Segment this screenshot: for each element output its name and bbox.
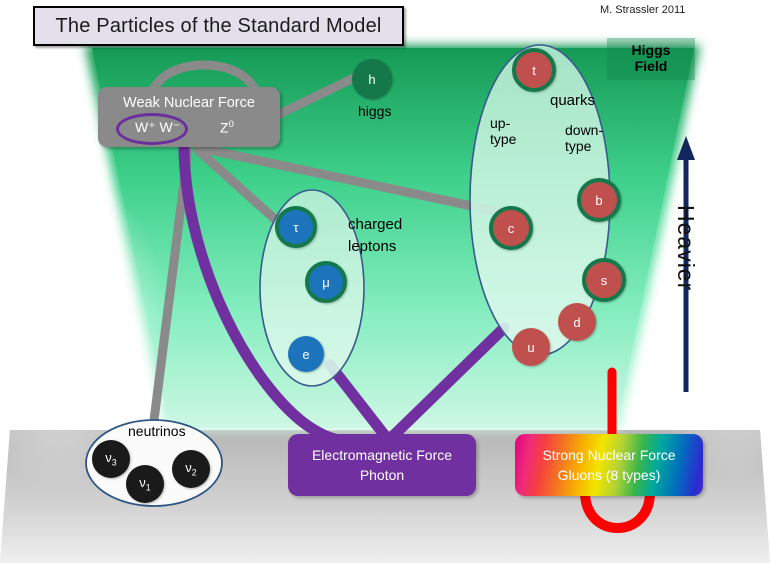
particle-neutrino-3-symbol: ν3 [105, 450, 116, 468]
up-type-label: up- type [490, 115, 516, 147]
particle-down-quark[interactable]: d [558, 303, 596, 341]
higgs-field-label: Higgs Field [613, 42, 689, 74]
charged-leptons-group-label: charged leptons [348, 214, 402, 258]
charged-leptons-label-line1: charged [348, 214, 402, 236]
w-boson-highlight-oval [116, 113, 188, 145]
higgs-field-label-line1: Higgs [613, 42, 689, 58]
down-type-label-line1: down- [565, 122, 603, 138]
particle-charm-quark[interactable]: c [489, 206, 533, 250]
particle-up-quark[interactable]: u [512, 328, 550, 366]
strong-force-line1: Strong Nuclear Force [542, 445, 675, 465]
particle-neutrino-2-symbol: ν2 [185, 460, 196, 478]
up-type-label-line2: type [490, 131, 516, 147]
charged-leptons-label-line2: leptons [348, 236, 402, 258]
down-type-label-line2: type [565, 138, 603, 154]
strong-force-line2: Gluons (8 types) [558, 465, 661, 485]
neutrinos-group-label: neutrinos [128, 423, 186, 439]
particle-bottom-quark[interactable]: b [577, 178, 621, 222]
em-force-line1: Electromagnetic Force [312, 445, 452, 465]
particle-neutrino-2[interactable]: ν2 [172, 450, 210, 488]
page-title: The Particles of the Standard Model [33, 6, 404, 46]
higgs-field-label-line2: Field [613, 58, 689, 74]
higgs-group-label: higgs [358, 103, 391, 119]
diagram-canvas: The Particles of the Standard Model M. S… [0, 0, 770, 563]
particle-higgs-symbol: h [368, 72, 375, 87]
z-boson-label: Z0 [220, 119, 234, 136]
strong-nuclear-force-box[interactable]: Strong Nuclear Force Gluons (8 types) [515, 434, 703, 496]
particle-muon[interactable]: μ [305, 261, 347, 303]
particle-neutrino-1[interactable]: ν1 [126, 465, 164, 503]
particle-charm-quark-symbol: c [508, 221, 515, 236]
down-type-label: down- type [565, 122, 603, 154]
particle-top-quark[interactable]: t [512, 48, 556, 92]
particle-neutrino-3[interactable]: ν3 [92, 440, 130, 478]
particle-bottom-quark-symbol: b [595, 193, 602, 208]
particle-electron[interactable]: e [288, 336, 324, 372]
heavier-arrow-label: Heavier [672, 205, 699, 291]
particle-strange-quark-symbol: s [601, 273, 608, 288]
quarks-group-label: quarks [550, 92, 595, 109]
particle-down-quark-symbol: d [573, 315, 580, 330]
particle-tau[interactable]: τ [275, 206, 317, 248]
electromagnetic-force-box[interactable]: Electromagnetic Force Photon [288, 434, 476, 496]
particle-neutrino-1-symbol: ν1 [139, 475, 150, 493]
particle-strange-quark[interactable]: s [582, 258, 626, 302]
particle-higgs[interactable]: h [352, 59, 392, 99]
particle-up-quark-symbol: u [527, 340, 534, 355]
up-type-label-line1: up- [490, 115, 516, 131]
em-force-line2: Photon [360, 465, 404, 485]
particle-muon-symbol: μ [322, 275, 330, 290]
attribution-text: M. Strassler 2011 [600, 4, 685, 16]
particle-tau-symbol: τ [293, 220, 298, 235]
weak-force-title: Weak Nuclear Force [98, 95, 280, 111]
particle-top-quark-symbol: t [532, 63, 536, 78]
particle-electron-symbol: e [302, 347, 309, 362]
